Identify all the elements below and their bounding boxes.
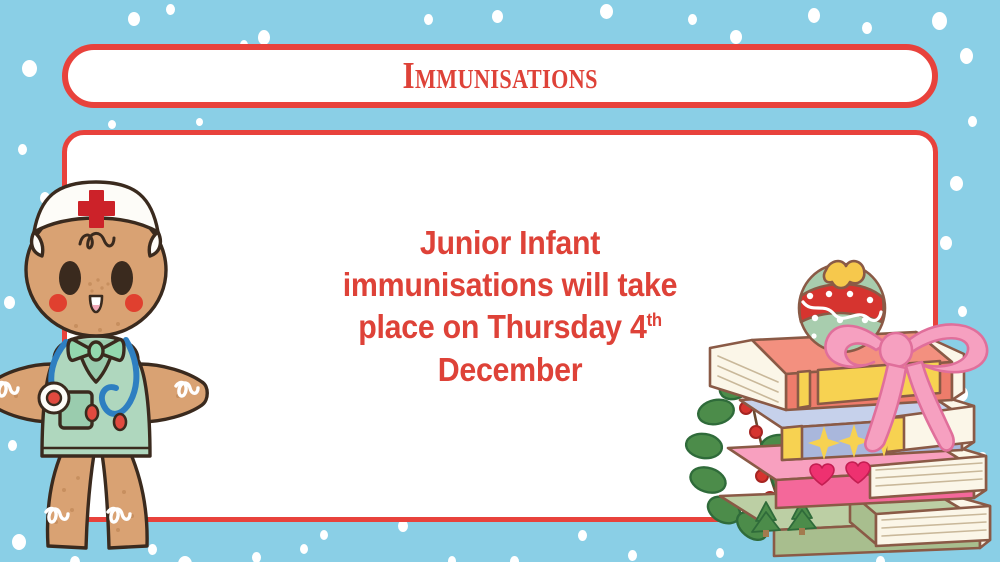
snow-dot: [510, 556, 519, 562]
gingerbread-nurse-icon: [0, 160, 240, 560]
announcement-line-3: place on Thursday 4th: [317, 306, 703, 348]
snow-dot: [950, 176, 963, 191]
snow-dot: [424, 14, 433, 25]
snow-dot: [166, 4, 175, 15]
snow-dot: [196, 118, 203, 126]
snow-dot: [18, 144, 27, 155]
snow-dot: [940, 236, 952, 250]
snow-dot: [300, 544, 308, 554]
announcement-line-1: Junior Infant: [317, 222, 703, 264]
snow-dot: [22, 60, 37, 77]
title-banner: Immunisations: [62, 44, 938, 108]
ordinal-suffix: th: [647, 310, 662, 330]
snow-dot: [960, 48, 973, 64]
snow-dot: [600, 4, 613, 19]
announcement-line-2: immunisations will take: [317, 264, 703, 306]
snow-dot: [128, 12, 140, 26]
announcement-line-3-text: place on Thursday 4: [358, 308, 646, 345]
snow-dot: [862, 22, 872, 34]
snow-dot: [258, 30, 270, 45]
book-stack-icon: [690, 258, 1000, 558]
snow-dot: [108, 120, 116, 129]
snow-dot: [252, 552, 261, 562]
gingerbread-nurse-illustration: [0, 160, 240, 560]
snow-dot: [968, 116, 977, 127]
christmas-books-illustration: [690, 258, 1000, 558]
snow-dot: [730, 30, 742, 44]
poster-canvas: Immunisations Junior Infant immunisation…: [0, 0, 1000, 562]
announcement-line-4: December: [317, 349, 703, 391]
snow-dot: [628, 550, 637, 561]
snow-dot: [578, 530, 587, 541]
snow-dot: [688, 14, 697, 25]
snow-dot: [808, 8, 820, 23]
page-title: Immunisations: [402, 57, 597, 95]
snow-dot: [320, 530, 328, 540]
snow-dot: [448, 556, 456, 562]
announcement-text: Junior Infant immunisations will take pl…: [317, 222, 703, 391]
snow-dot: [492, 10, 503, 23]
snow-dot: [932, 12, 947, 30]
